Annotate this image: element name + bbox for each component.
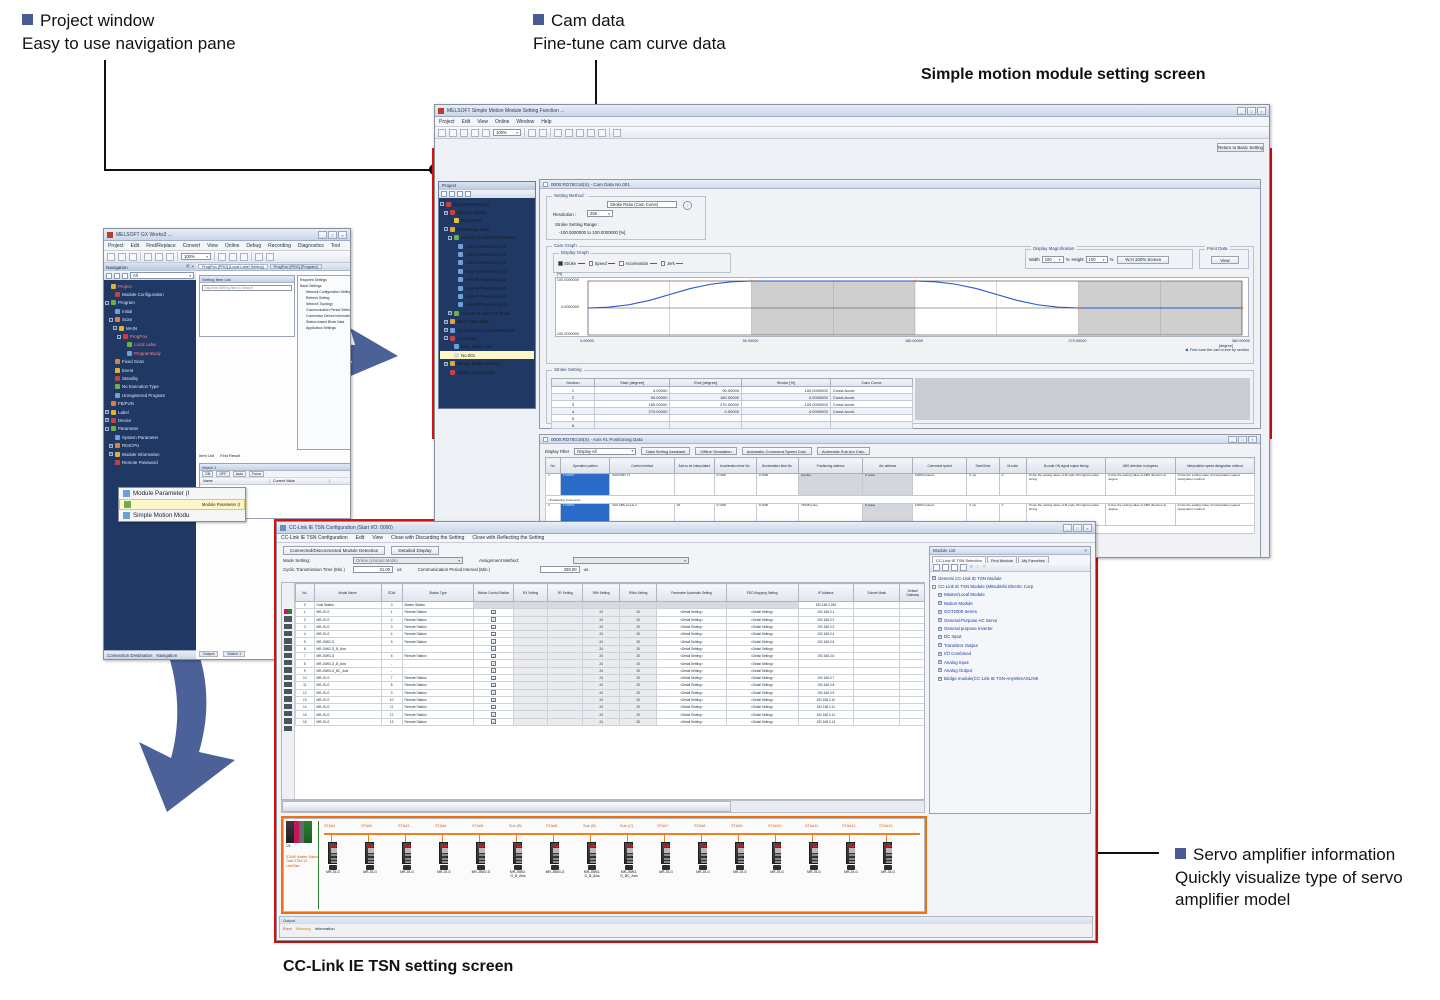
- tree-expander-icon[interactable]: +: [109, 452, 113, 456]
- cell-ry[interactable]: [548, 645, 583, 652]
- cell-model[interactable]: MR-J5W3-G_B_Axis: [314, 660, 381, 667]
- cell-param-auto[interactable]: <Detail Setting>: [657, 704, 726, 711]
- tree-expander-icon[interactable]: +: [105, 410, 109, 414]
- cell-rwr[interactable]: [583, 602, 620, 609]
- stroke-table-row[interactable]: 6: [552, 422, 913, 429]
- sm-menu-project[interactable]: Project: [439, 119, 455, 125]
- tree-expander-icon[interactable]: -: [440, 202, 444, 206]
- cell-gateway[interactable]: [900, 711, 925, 718]
- copy-icon[interactable]: [449, 129, 457, 137]
- cell-end[interactable]: 0.00000: [670, 408, 742, 415]
- cell-station-type[interactable]: Remote Station: [402, 653, 474, 660]
- cell-ip[interactable]: [798, 660, 854, 667]
- motion-control-checkbox[interactable]: ✓: [491, 661, 496, 666]
- cell-rwr[interactable]: 24: [583, 711, 620, 718]
- cell-gateway[interactable]: [900, 689, 925, 696]
- cell-no[interactable]: 2: [296, 616, 315, 623]
- cell-gateway[interactable]: [900, 602, 925, 609]
- module-list-item[interactable]: +Motion Module: [932, 599, 1088, 607]
- tree-expander-icon[interactable]: -: [105, 301, 109, 305]
- module-list-item[interactable]: +General purpose Inverter: [932, 624, 1088, 632]
- save-icon[interactable]: [129, 253, 137, 261]
- cut-icon[interactable]: [144, 253, 152, 261]
- module-list-tabs[interactable]: CC-Link IE TSN SelectionFind ModuleMy Fa…: [930, 555, 1090, 563]
- cell-rww[interactable]: 20: [620, 696, 657, 703]
- gear-icon[interactable]: [122, 273, 128, 279]
- online-icon[interactable]: [229, 253, 237, 261]
- module-list-item[interactable]: +GOT2000 Series: [932, 608, 1088, 616]
- cell-motion-control[interactable]: ✓: [474, 682, 513, 689]
- nav-filter-combo[interactable]: All▾: [130, 272, 194, 279]
- display-filter-select[interactable]: Display All▾: [574, 448, 636, 455]
- legend-item[interactable]: Speed: [589, 261, 616, 266]
- group-icon[interactable]: [960, 564, 967, 571]
- nav-tree-item[interactable]: No Execution Type: [105, 383, 195, 391]
- cc-table-body[interactable]: 0Host Station0Master Station192.168.3.25…: [296, 602, 926, 726]
- cell-abs-dir[interactable]: 0:Use the setting value of ABS direction…: [1106, 504, 1175, 526]
- width-select[interactable]: 100▾: [1042, 256, 1064, 263]
- cell-station-type[interactable]: -: [402, 667, 474, 674]
- cell-rww[interactable]: 20: [620, 718, 657, 725]
- cell-rx[interactable]: [513, 609, 548, 616]
- cc-table-row[interactable]: 15MR-J5-G12Remote Station✓2420<Detail Se…: [296, 711, 926, 718]
- cell-sta[interactable]: 11: [381, 704, 402, 711]
- output-filter-warning[interactable]: Warning: [296, 926, 311, 931]
- legend-checkbox[interactable]: [661, 261, 666, 266]
- cell-gateway[interactable]: [900, 674, 925, 681]
- cc-table-row[interactable]: 6MR-J5W2-G_B_Axis--✓2420<Detail Setting>…: [296, 645, 926, 652]
- cell-rx[interactable]: [513, 667, 548, 674]
- cell-model[interactable]: MR-J5-G: [314, 623, 381, 630]
- nav-tree-item[interactable]: FB/FUN: [105, 399, 195, 407]
- cell-ry[interactable]: [548, 711, 583, 718]
- sm-tree-item[interactable]: Axis #3 Positioning D: [440, 259, 534, 267]
- tree-expander-icon[interactable]: -: [113, 326, 117, 330]
- motion-control-checkbox[interactable]: ✓: [491, 690, 496, 695]
- stroke-table-row[interactable]: 5: [552, 415, 913, 422]
- cell-section[interactable]: 6: [552, 422, 595, 429]
- tree-expander-icon[interactable]: -: [448, 236, 452, 240]
- gx-menu-view[interactable]: View: [207, 243, 218, 249]
- servo-amplifier[interactable]: MR-J5-G: [439, 842, 448, 864]
- motion-control-checkbox[interactable]: ✓: [491, 668, 496, 673]
- module-list-item[interactable]: +Analog Input: [932, 658, 1088, 666]
- watch-button[interactable]: ON: [202, 471, 213, 477]
- menu-item[interactable]: Module Parameter (I: [119, 499, 245, 510]
- sm-tree-item[interactable]: No.001: [440, 351, 534, 359]
- cell-rwr[interactable]: 24: [583, 682, 620, 689]
- sm-menubar[interactable]: ProjectEditViewOnlineWindowHelp: [435, 117, 1269, 127]
- cell-arc[interactable]: 0 pulse: [863, 474, 913, 496]
- sm-project-pane[interactable]: Project -0000:RD78G16(S)+System SettingP…: [438, 181, 536, 409]
- cell-subnet[interactable]: [854, 718, 900, 725]
- cc-menu[interactable]: CC-Link IE TSN Configuration: [281, 535, 348, 541]
- cell-rww[interactable]: 20: [620, 667, 657, 674]
- close-icon[interactable]: ×: [1084, 548, 1087, 553]
- cell-model[interactable]: MR-J5-G: [314, 696, 381, 703]
- cell-motion-control[interactable]: ✓: [474, 718, 513, 725]
- nav-tree-item[interactable]: Remote Password: [105, 458, 195, 466]
- cc-action-button[interactable]: Detailed Display: [391, 546, 438, 555]
- cell-rwr[interactable]: 24: [583, 660, 620, 667]
- cell-sta[interactable]: 4: [381, 631, 402, 638]
- cc-table-row[interactable]: 8MR-J5W3-G_B_Axis--✓2420<Detail Setting>…: [296, 660, 926, 667]
- cell-no[interactable]: 4: [296, 631, 315, 638]
- motion-control-checkbox[interactable]: ✓: [491, 698, 496, 703]
- cell-no[interactable]: 11: [296, 682, 315, 689]
- cell-ip[interactable]: 192.168.3.10: [798, 696, 854, 703]
- align-left-icon[interactable]: [554, 129, 562, 137]
- output-tab[interactable]: Output: [199, 651, 218, 657]
- cell-gateway[interactable]: [900, 645, 925, 652]
- cell-rx[interactable]: [513, 645, 548, 652]
- cclink-window[interactable]: CC-Link IE TSN Configuration (Start I/O:…: [276, 521, 1096, 941]
- cell-ip[interactable]: 192.168.3.3: [798, 623, 854, 630]
- cc-menubar[interactable]: CC-Link IE TSN ConfigurationEditViewClos…: [277, 534, 1095, 543]
- nav-tree-item[interactable]: Fixed Scan: [105, 358, 195, 366]
- cell-rww[interactable]: 20: [620, 704, 657, 711]
- monitor-icon[interactable]: [240, 253, 248, 261]
- cell-motion-control[interactable]: ✓: [474, 667, 513, 674]
- undo-icon[interactable]: [471, 129, 479, 137]
- fine-tune-note[interactable]: ◀ Fine-tune the cam curve by section: [1185, 347, 1249, 352]
- output-filter-information[interactable]: Information: [315, 926, 335, 931]
- servo-amplifier[interactable]: MR-J5-G: [698, 842, 707, 864]
- gx-menu-online[interactable]: Online: [225, 243, 239, 249]
- minimize-icon[interactable]: _: [318, 231, 327, 239]
- cell-pdo-map[interactable]: <Detail Setting>: [726, 696, 798, 703]
- cc-window-buttons[interactable]: _□×: [1063, 524, 1092, 532]
- cell-rx[interactable]: [513, 660, 548, 667]
- cell-subnet[interactable]: [854, 674, 900, 681]
- gx-menu-project[interactable]: Project: [108, 243, 124, 249]
- cell-method[interactable]: 04h:FWD Y1: [610, 474, 674, 496]
- motion-control-checkbox[interactable]: ✓: [491, 676, 496, 681]
- maximize-icon[interactable]: □: [1073, 524, 1082, 532]
- star-icon[interactable]: ★: [969, 564, 973, 570]
- sm-toolbar[interactable]: 100%▾: [435, 127, 1269, 139]
- cell-rwr[interactable]: 24: [583, 667, 620, 674]
- watch-button[interactable]: Force: [249, 471, 264, 477]
- nav-tree-item[interactable]: Local Label: [105, 341, 195, 349]
- tree-expander-icon[interactable]: +: [105, 418, 109, 422]
- cell-model[interactable]: MR-J5-G: [314, 704, 381, 711]
- gx-menubar[interactable]: ProjectEditFind/ReplaceConvertViewOnline…: [104, 241, 350, 251]
- cell-rx[interactable]: [513, 602, 548, 609]
- cell-rww[interactable]: 20: [620, 682, 657, 689]
- monitor-icon[interactable]: [613, 129, 621, 137]
- cell-section[interactable]: 5: [552, 415, 595, 422]
- tree-expander-icon[interactable]: -: [109, 318, 113, 322]
- cell-model[interactable]: MR-J5W3-G_BC_Axis: [314, 667, 381, 674]
- cell-start[interactable]: 0.00000: [594, 387, 670, 394]
- motion-control-checkbox[interactable]: ✓: [491, 654, 496, 659]
- sm-tree-item[interactable]: +System Setting: [440, 208, 534, 216]
- cell-rx[interactable]: [513, 689, 548, 696]
- cell-rwr[interactable]: 24: [583, 674, 620, 681]
- tree-expander-icon[interactable]: -: [444, 336, 448, 340]
- setting-method-value[interactable]: Stroke Ratio (Cam Curve): [607, 201, 677, 208]
- nav-tree-item[interactable]: Event: [105, 366, 195, 374]
- cell-interp-speed[interactable]: 0:Use the setting value of Interpolation…: [1175, 474, 1254, 496]
- cell-ry[interactable]: [548, 674, 583, 681]
- cell-subnet[interactable]: [854, 616, 900, 623]
- cell-model[interactable]: MR-J5-G: [314, 689, 381, 696]
- cell-motion-control[interactable]: ✓: [474, 631, 513, 638]
- tree-expander-icon[interactable]: +: [938, 668, 942, 672]
- cell-end[interactable]: 90.00000: [670, 387, 742, 394]
- assignment-method-select[interactable]: ▾: [573, 557, 689, 564]
- cell-no[interactable]: 1: [296, 609, 315, 616]
- cell-pdo-map[interactable]: <Detail Setting>: [726, 667, 798, 674]
- setting-item[interactable]: Application Settings: [300, 326, 351, 332]
- close-icon[interactable]: ×: [1257, 107, 1266, 115]
- device-map-view[interactable]: 1/5 STA#0 Master Station Total STA#:13 L…: [283, 818, 925, 912]
- stroke-table-row[interactable]: 4270.000000.000000.0000000Const.Accel.: [552, 408, 913, 415]
- cell-mcode-timing[interactable]: 0:Use the setting value of M-code ON sig…: [1026, 474, 1105, 496]
- tree-expander-icon[interactable]: -: [444, 227, 448, 231]
- cell-pdo-map[interactable]: [726, 602, 798, 609]
- cell-gateway[interactable]: [900, 660, 925, 667]
- gx-window-buttons[interactable]: _□×: [318, 231, 347, 239]
- nav-tree-item[interactable]: Module Configuration: [105, 290, 195, 298]
- cell-section[interactable]: 1: [552, 387, 595, 394]
- tab-program[interactable]: ProgPou [PRG] [Program]: [270, 264, 322, 269]
- pos-button[interactable]: Automatic Command Speed Calc.: [742, 447, 812, 455]
- setting-detail-panel[interactable]: Required SettingsBasic SettingsNetwork C…: [297, 275, 351, 450]
- cc-table-row[interactable]: 14MR-J5-G11Remote Station✓2420<Detail Se…: [296, 704, 926, 711]
- cell-ip[interactable]: 192.168.3.6: [798, 653, 854, 660]
- servo-amplifier[interactable]: MR-J5-G: [735, 842, 744, 864]
- nav-tree-item[interactable]: -Scan: [105, 316, 195, 324]
- cell-pdo-map[interactable]: <Detail Setting>: [726, 623, 798, 630]
- cc-table-row[interactable]: 11MR-J5-G8Remote Station✓2420<Detail Set…: [296, 682, 926, 689]
- cc-table-row[interactable]: 5MR-J5W2-G5Remote Station✓2420<Detail Se…: [296, 638, 926, 645]
- cell-pdo-map[interactable]: <Detail Setting>: [726, 704, 798, 711]
- pos-buttons[interactable]: Data Setting AssistantOffline Simulation…: [641, 447, 870, 455]
- cell-model[interactable]: MR-J5-G: [314, 631, 381, 638]
- cell-ry[interactable]: [548, 638, 583, 645]
- legend-item[interactable]: Acceleration: [619, 261, 657, 266]
- module-parameter-menu[interactable]: Module Parameter (IModule Parameter (ISi…: [118, 487, 246, 522]
- menu-item[interactable]: Simple Motion Modu: [119, 510, 245, 521]
- redo-icon[interactable]: [482, 129, 490, 137]
- align-right-icon[interactable]: [576, 129, 584, 137]
- sm-menu-window[interactable]: Window: [516, 119, 534, 125]
- cell-gateway[interactable]: [900, 616, 925, 623]
- cell-stroke[interactable]: [742, 422, 831, 429]
- cell-no[interactable]: 14: [296, 704, 315, 711]
- cell-ip[interactable]: 192.168.3.2: [798, 616, 854, 623]
- cell-param-auto[interactable]: [657, 602, 726, 609]
- cell-subnet[interactable]: [854, 631, 900, 638]
- cell-subnet[interactable]: [854, 696, 900, 703]
- sm-tree-item[interactable]: Parameter: [440, 217, 534, 225]
- cell-sta[interactable]: 5: [381, 638, 402, 645]
- cell-rx[interactable]: [513, 674, 548, 681]
- sm-zoom-combo[interactable]: 100%▾: [493, 129, 521, 136]
- pos-button[interactable]: Offline Simulation: [695, 447, 736, 455]
- open-icon[interactable]: [118, 253, 126, 261]
- menu-item[interactable]: Module Parameter (I: [119, 488, 245, 499]
- cell-rww[interactable]: 20: [620, 689, 657, 696]
- nav-tab[interactable]: Navigation: [156, 653, 177, 658]
- tree-expander-icon[interactable]: +: [444, 362, 448, 366]
- pos-button[interactable]: Automatic Sub Arc Calc.: [817, 447, 870, 455]
- nav-tree-item[interactable]: +Label: [105, 408, 195, 416]
- tree-expander-icon[interactable]: +: [109, 444, 113, 448]
- cell-pdo-map[interactable]: <Detail Setting>: [726, 645, 798, 652]
- tree-expander-icon[interactable]: -: [932, 585, 936, 589]
- cut-icon[interactable]: [438, 129, 446, 137]
- close-icon[interactable]: ×: [338, 231, 347, 239]
- legend-checkbox[interactable]: [589, 261, 594, 266]
- sm-tree-item[interactable]: Axis #7 Positioning D: [440, 292, 534, 300]
- cc-table-row[interactable]: 16MR-J5-G13Remote Station✓2420<Detail Se…: [296, 718, 926, 725]
- list-view-icon[interactable]: [933, 564, 940, 571]
- cell-subnet[interactable]: [854, 667, 900, 674]
- output-filters[interactable]: ErrorWarningInformation: [280, 924, 1092, 932]
- servo-amplifier[interactable]: MR-J5-G: [772, 842, 781, 864]
- tree-expander-icon[interactable]: +: [938, 660, 942, 664]
- cell-gateway[interactable]: [900, 718, 925, 725]
- cc-menu[interactable]: View: [372, 535, 383, 541]
- cell-gateway[interactable]: [900, 667, 925, 674]
- cell-rx[interactable]: [513, 653, 548, 660]
- cell-rwr[interactable]: 24: [583, 631, 620, 638]
- cell-rww[interactable]: 20: [620, 623, 657, 630]
- cell-gateway[interactable]: [900, 704, 925, 711]
- cell-rwr[interactable]: 24: [583, 653, 620, 660]
- cell-station-type[interactable]: Master Station: [402, 602, 474, 609]
- cc-table-row[interactable]: 4MR-J5-G4Remote Station✓2420<Detail Sett…: [296, 631, 926, 638]
- cell-rwr[interactable]: 24: [583, 616, 620, 623]
- cell-motion-control[interactable]: ✓: [474, 623, 513, 630]
- cc-menu[interactable]: Close with Discarding the Setting: [391, 535, 464, 541]
- cell-param-auto[interactable]: <Detail Setting>: [657, 653, 726, 660]
- module-list-item[interactable]: +General CC-Link IE TSN Module: [932, 574, 1088, 582]
- cam-data-window[interactable]: 0000:RD78G16(S) - Cam Data No.001 Settin…: [539, 179, 1261, 429]
- tree-expander-icon[interactable]: +: [448, 311, 452, 315]
- sm-menu-edit[interactable]: Edit: [462, 119, 471, 125]
- cell-ip[interactable]: 192.168.3.11: [798, 704, 854, 711]
- cell-ip[interactable]: 192.168.3.4: [798, 631, 854, 638]
- cell-rwr[interactable]: 24: [583, 609, 620, 616]
- output-filter-error[interactable]: Error: [283, 926, 292, 931]
- cell-motion-control[interactable]: ✓: [474, 696, 513, 703]
- write-icon[interactable]: [539, 129, 547, 137]
- stroke-table-row[interactable]: 3180.00000270.00000-100.0000000Const.Acc…: [552, 401, 913, 408]
- watch-button[interactable]: Auto: [233, 471, 246, 477]
- cell-rww[interactable]: [620, 602, 657, 609]
- cell-param-auto[interactable]: <Detail Setting>: [657, 674, 726, 681]
- cell-no[interactable]: 5: [296, 638, 315, 645]
- sm-tree-item[interactable]: +Synchronous Control Parame: [440, 326, 534, 334]
- cell-param-auto[interactable]: <Detail Setting>: [657, 631, 726, 638]
- cell-sta[interactable]: 6: [381, 653, 402, 660]
- cell-rx[interactable]: [513, 696, 548, 703]
- cell-ry[interactable]: [548, 682, 583, 689]
- cell-no[interactable]: 9: [296, 667, 315, 674]
- cell-no[interactable]: 1: [546, 474, 561, 496]
- cell-stroke[interactable]: [742, 415, 831, 422]
- cell-sta[interactable]: 10: [381, 696, 402, 703]
- cell-param-auto[interactable]: <Detail Setting>: [657, 623, 726, 630]
- navigation-tree[interactable]: ProjectModule Configuration-ProgramIniti…: [104, 280, 196, 650]
- cell-no[interactable]: 12: [296, 689, 315, 696]
- cell-motion-control[interactable]: ✓: [474, 653, 513, 660]
- cell-ip[interactable]: [798, 667, 854, 674]
- sm-project-toolbar[interactable]: [439, 190, 535, 198]
- cell-axis[interactable]: -: [674, 474, 714, 496]
- cell-sta[interactable]: 3: [381, 623, 402, 630]
- sm-tree-item[interactable]: -0000:RD78G16(S): [440, 200, 534, 208]
- align-center-icon[interactable]: [565, 129, 573, 137]
- cell-ip[interactable]: [798, 645, 854, 652]
- cell-param-auto[interactable]: <Detail Setting>: [657, 616, 726, 623]
- cell-param-auto[interactable]: <Detail Setting>: [657, 689, 726, 696]
- cell-no[interactable]: 0: [296, 602, 315, 609]
- pos-toolbar[interactable]: Display Filter Display All▾ Data Setting…: [540, 444, 1260, 458]
- cell-rwr[interactable]: 24: [583, 704, 620, 711]
- cell-model[interactable]: Host Station: [314, 602, 381, 609]
- cell-station-type[interactable]: -: [402, 645, 474, 652]
- cell-motion-control[interactable]: ✓: [474, 616, 513, 623]
- maximize-icon[interactable]: □: [1247, 107, 1256, 115]
- tree-expander-icon[interactable]: +: [932, 576, 936, 580]
- cell-pdo-map[interactable]: <Detail Setting>: [726, 689, 798, 696]
- cell-motion-control[interactable]: ✓: [474, 711, 513, 718]
- cell-curve[interactable]: Const.Accel.: [830, 401, 912, 408]
- cell-station-type[interactable]: Remote Station: [402, 616, 474, 623]
- cell-start[interactable]: [594, 415, 670, 422]
- navigation-tabs[interactable]: Connection DestinationNavigation: [104, 650, 196, 659]
- cell-rwr[interactable]: 24: [583, 623, 620, 630]
- cell-gateway[interactable]: [900, 631, 925, 638]
- motion-control-checkbox[interactable]: ✓: [491, 625, 496, 630]
- cell-rww[interactable]: 20: [620, 660, 657, 667]
- module-list-item[interactable]: -CC-Link IE TSN Module (Mitsubishi Elect…: [932, 582, 1088, 590]
- cell-model[interactable]: MR-J5W2-G_B_Axis: [314, 645, 381, 652]
- cell-pdo-map[interactable]: <Detail Setting>: [726, 682, 798, 689]
- cell-model[interactable]: MR-J5-G: [314, 718, 381, 725]
- sort-icon[interactable]: [942, 564, 949, 571]
- expand-all-icon[interactable]: [441, 191, 447, 197]
- cell-rwr[interactable]: 24: [583, 696, 620, 703]
- cell-subnet[interactable]: [854, 689, 900, 696]
- cc-menu[interactable]: Close with Reflecting the Setting: [472, 535, 544, 541]
- setting-item-list-panel[interactable]: Setting Item List Input the Setting Item…: [199, 275, 295, 337]
- tree-expander-icon[interactable]: +: [938, 635, 942, 639]
- cell-ip[interactable]: 192.168.3.12: [798, 711, 854, 718]
- cell-param-auto[interactable]: <Detail Setting>: [657, 645, 726, 652]
- cell-motion-control[interactable]: ✓: [474, 645, 513, 652]
- cell-model[interactable]: MR-J5-G: [314, 682, 381, 689]
- cell-subnet[interactable]: [854, 682, 900, 689]
- cell-ry[interactable]: [548, 609, 583, 616]
- servo-amplifier[interactable]: MR-J5-G: [809, 842, 818, 864]
- servo-amplifier[interactable]: MR-J5-G: [883, 842, 892, 864]
- cell-section[interactable]: 4: [552, 408, 595, 415]
- cell-subnet[interactable]: [854, 602, 900, 609]
- sm-tree-item[interactable]: Axis #1 Positioning D: [440, 242, 534, 250]
- cell-interp-speed[interactable]: 0:Use the setting value of Interpolation…: [1175, 504, 1254, 526]
- cell-no[interactable]: 15: [296, 711, 315, 718]
- motion-control-checkbox[interactable]: ✓: [491, 683, 496, 688]
- excel-icon[interactable]: [465, 191, 471, 197]
- sm-tree-item[interactable]: -Cam Data: [440, 334, 534, 342]
- cell-section[interactable]: 3: [552, 401, 595, 408]
